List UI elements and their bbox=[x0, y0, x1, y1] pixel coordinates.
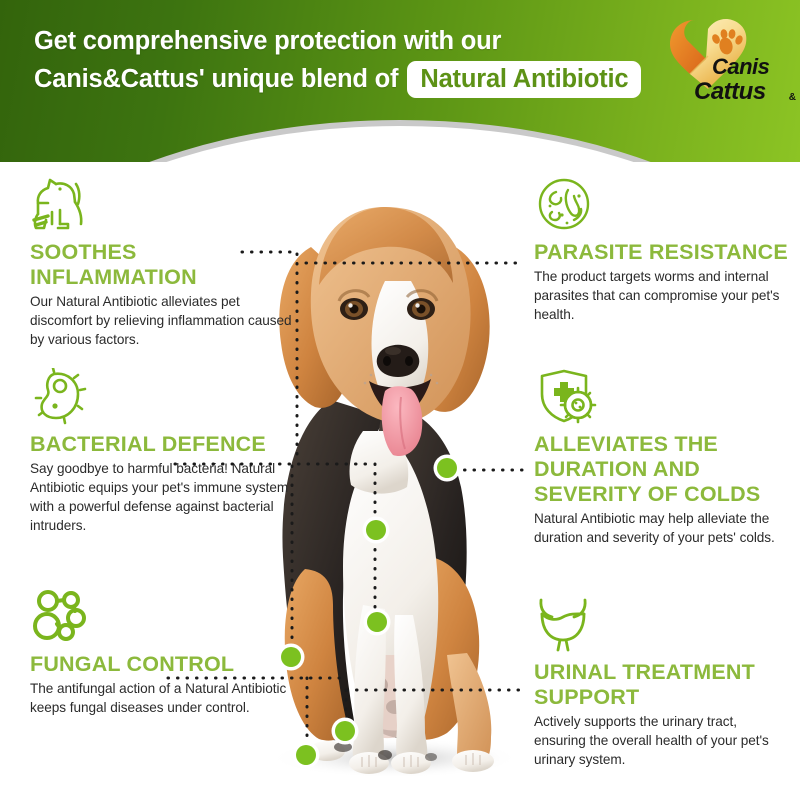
feature-title: SOOTHES INFLAMMATION bbox=[30, 240, 292, 290]
marker-paw[interactable] bbox=[293, 742, 320, 769]
feature-alleviates-colds: ALLEVIATES THE DURATION AND SEVERITY OF … bbox=[534, 368, 792, 547]
header-arc-white bbox=[0, 126, 800, 162]
logo-ampersand: & bbox=[789, 93, 796, 103]
brand-logo[interactable]: Canis Cattus & bbox=[658, 12, 792, 112]
feature-body: The product targets worms and internal p… bbox=[534, 267, 796, 324]
shield-virus-icon bbox=[534, 368, 792, 428]
feature-parasite-resistance: PARASITE RESISTANCE The product targets … bbox=[534, 176, 796, 324]
feature-title: FUNGAL CONTROL bbox=[30, 652, 292, 677]
infographic-page: Get comprehensive protection with our Ca… bbox=[0, 0, 800, 800]
logo-wordmark: Canis Cattus & bbox=[694, 56, 794, 104]
feature-body: Actively supports the urinary tract, ens… bbox=[534, 712, 792, 769]
feature-bacterial-defence: BACTERIAL DEFENCE Say goodbye to harmful… bbox=[30, 368, 292, 535]
dog-bandaged-leg-icon bbox=[30, 176, 292, 236]
headline-line-2-row: Canis&Cattus' unique blend of Natural An… bbox=[34, 60, 674, 98]
bacteria-cell-icon bbox=[30, 368, 292, 428]
highlight-natural-antibiotic: Natural Antibiotic bbox=[407, 61, 641, 98]
feature-fungal-control: FUNGAL CONTROL The antifungal action of … bbox=[30, 588, 292, 717]
feature-body: Our Natural Antibiotic alleviates pet di… bbox=[30, 292, 292, 349]
marker-lower-belly[interactable] bbox=[332, 718, 359, 745]
feature-body: Natural Antibiotic may help alleviate th… bbox=[534, 509, 792, 547]
headline: Get comprehensive protection with our Ca… bbox=[34, 22, 674, 98]
feature-title: PARASITE RESISTANCE bbox=[534, 240, 796, 265]
feature-title: BACTERIAL DEFENCE bbox=[30, 432, 292, 457]
feature-title: URINAL TREATMENT SUPPORT bbox=[534, 660, 792, 710]
headline-line-1: Get comprehensive protection with our bbox=[34, 22, 674, 60]
logo-text-cattus: Cattus bbox=[694, 80, 794, 104]
bladder-icon bbox=[534, 596, 792, 656]
marker-chest-mid[interactable] bbox=[363, 517, 390, 544]
feature-soothes-inflammation: SOOTHES INFLAMMATION Our Natural Antibio… bbox=[30, 176, 292, 349]
feature-body: The antifungal action of a Natural Antib… bbox=[30, 679, 292, 717]
logo-text-canis: Canis bbox=[712, 56, 794, 78]
marker-leg-left[interactable] bbox=[278, 644, 305, 671]
feature-body: Say goodbye to harmful bacteria! Natural… bbox=[30, 459, 292, 535]
fungal-spores-icon bbox=[30, 588, 292, 648]
feature-title: ALLEVIATES THE DURATION AND SEVERITY OF … bbox=[534, 432, 792, 507]
parasite-petri-dish-icon bbox=[534, 176, 796, 236]
feature-urinal-treatment-support: URINAL TREATMENT SUPPORT Actively suppor… bbox=[534, 596, 792, 769]
marker-chest-upper[interactable] bbox=[434, 455, 461, 482]
headline-line-2: Canis&Cattus' unique blend of bbox=[34, 60, 398, 98]
marker-belly[interactable] bbox=[364, 609, 391, 636]
header-banner: Get comprehensive protection with our Ca… bbox=[0, 0, 800, 162]
